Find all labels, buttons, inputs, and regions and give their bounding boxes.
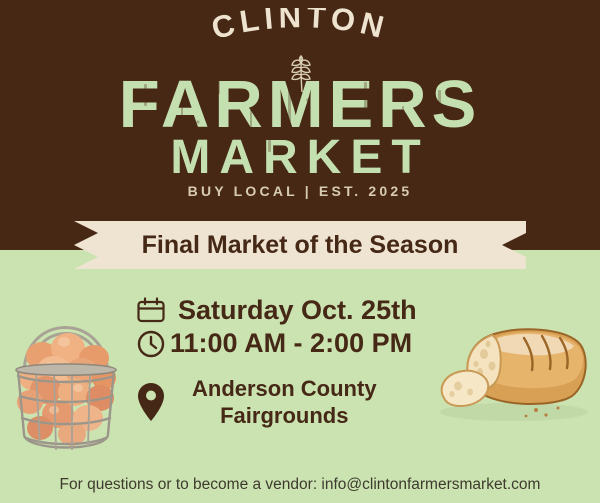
event-time-text: 11:00 AM - 2:00 PM [170, 328, 412, 359]
map-pin-icon [136, 382, 166, 422]
banner-title: Final Market of the Season [142, 231, 459, 260]
event-location-text: Anderson County Fairgrounds [192, 375, 377, 429]
calendar-icon [136, 296, 166, 326]
event-details: Saturday Oct. 25th 11:00 AM - 2:00 PM An… [0, 295, 600, 429]
event-location-line1: Anderson County [192, 375, 377, 402]
detail-row-date: Saturday Oct. 25th [136, 295, 600, 326]
season-banner: Final Market of the Season [74, 221, 526, 269]
detail-row-location: Anderson County Fairgrounds [136, 375, 600, 429]
logo-line-farmers: FARMERS [0, 72, 600, 138]
event-date-text: Saturday Oct. 25th [178, 295, 417, 326]
event-location-line2: Fairgrounds [192, 402, 377, 429]
contact-footer: For questions or to become a vendor: inf… [0, 476, 600, 494]
poster-canvas: CLINTON FARMERS MARKET BUY LOCAL | EST. … [0, 0, 600, 503]
market-logo: CLINTON FARMERS MARKET BUY LOCAL | EST. … [0, 0, 600, 250]
logo-tagline: BUY LOCAL | EST. 2025 [0, 183, 600, 199]
detail-row-time: 11:00 AM - 2:00 PM [136, 328, 600, 359]
clock-icon [136, 329, 166, 359]
logo-arc-text: CLINTON [208, 8, 392, 46]
logo-line-market: MARKET [0, 134, 600, 182]
